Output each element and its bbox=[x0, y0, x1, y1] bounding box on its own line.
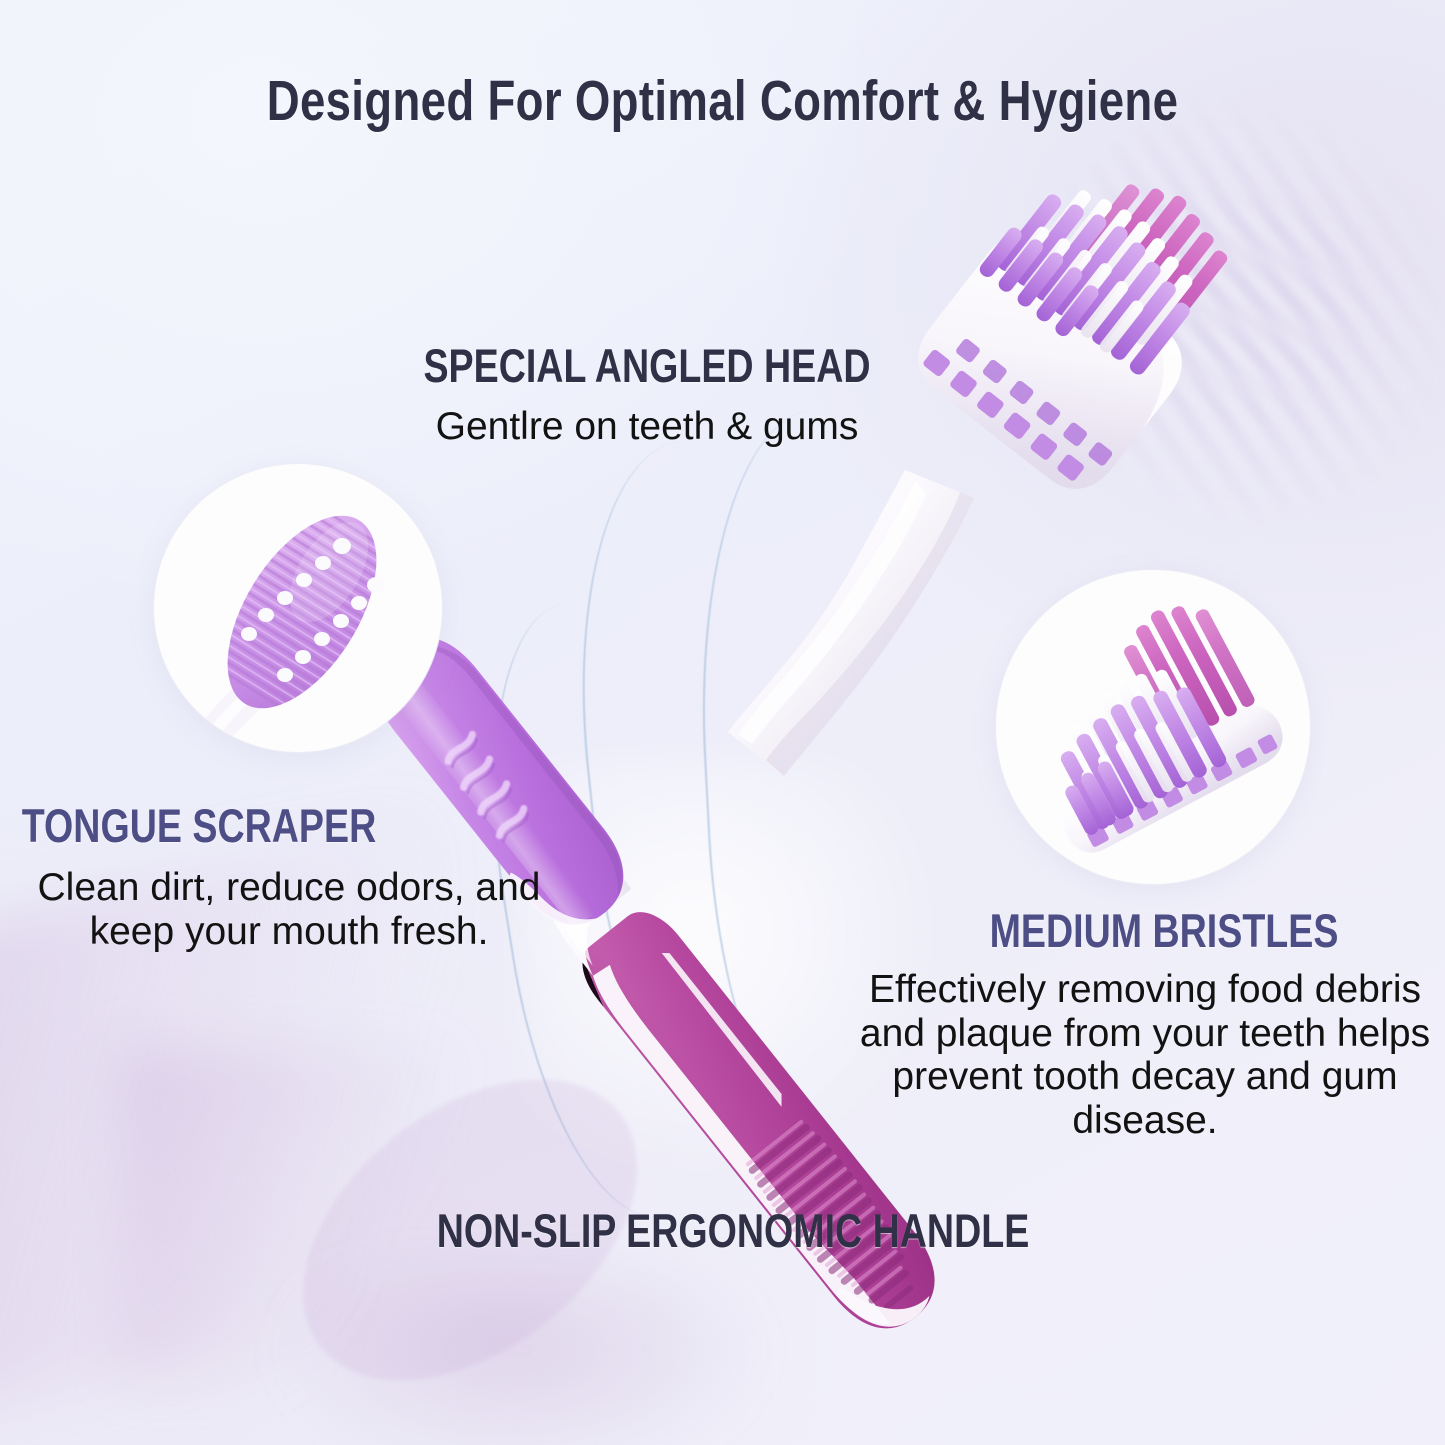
feature-title-non-slip-ergonomic-handle: NON-SLIP ERGONOMIC HANDLE bbox=[413, 1205, 1053, 1258]
page-title: Designed For Optimal Comfort & Hygiene bbox=[145, 68, 1301, 134]
feature-title-tongue-scraper: TONGUE SCRAPER bbox=[0, 798, 503, 853]
feature-body-special-angled-head: Gentlre on teeth & gums bbox=[347, 405, 947, 449]
feature-title-medium-bristles: MEDIUM BRISTLES bbox=[860, 903, 1445, 958]
medium-bristles-closeup-circle bbox=[996, 570, 1310, 884]
ghost-toothbrush-watermark-secondary bbox=[1029, 83, 1445, 516]
feature-title-special-angled-head: SPECIAL ANGLED HEAD bbox=[327, 338, 967, 393]
feature-body-tongue-scraper: Clean dirt, reduce odors, and keep your … bbox=[9, 866, 569, 953]
background-shadow-left-inner bbox=[120, 1050, 450, 1380]
medium-bristles-image bbox=[996, 570, 1310, 884]
tongue-scraper-closeup-circle bbox=[154, 464, 442, 752]
tongue-scraper-image bbox=[154, 464, 442, 752]
feature-body-medium-bristles: Effectively removing food debris and pla… bbox=[850, 968, 1440, 1143]
product-infographic: Designed For Optimal Comfort & Hygiene S… bbox=[0, 0, 1445, 1445]
background-shadow-bottom bbox=[280, 1270, 760, 1445]
